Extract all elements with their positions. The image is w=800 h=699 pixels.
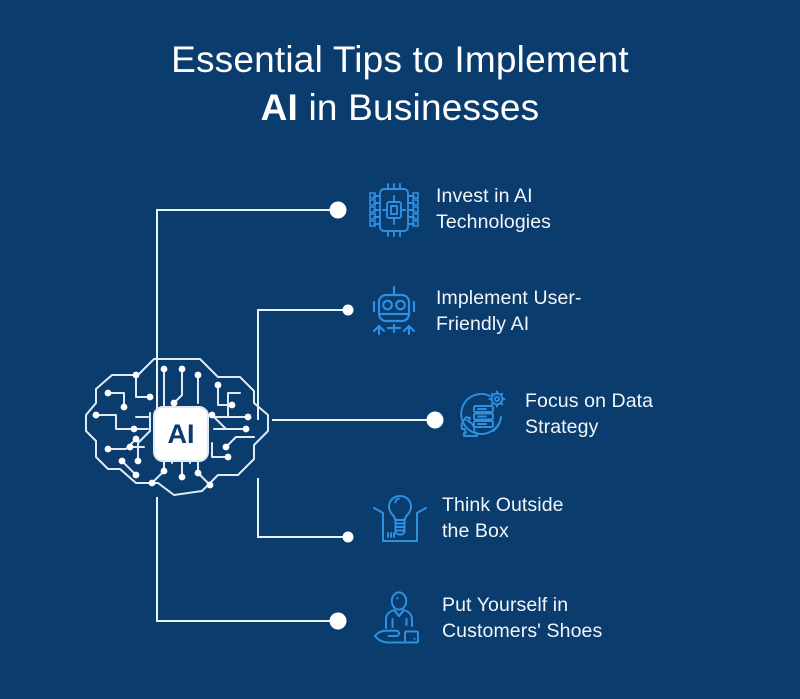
tip-item-5[interactable]: Put Yourself in Customers' Shoes (372, 591, 602, 647)
tip-item-4[interactable]: Think Outside the Box (372, 491, 564, 547)
connector-dot-1 (330, 202, 347, 219)
tip-item-3[interactable]: Focus on Data Strategy (455, 387, 653, 443)
robot-icon (366, 284, 422, 340)
tip-item-1[interactable]: Invest in AI Technologies (366, 182, 551, 238)
ai-chip-label: AI (168, 419, 195, 449)
ai-brain-circuit-icon: AI (78, 345, 283, 515)
data-strategy-icon (455, 387, 511, 443)
title-ai-emphasis: AI (261, 87, 298, 128)
tip-label-5: Put Yourself in Customers' Shoes (442, 593, 602, 645)
infographic-canvas: Essential Tips to Implement AI in Busine… (0, 0, 800, 699)
tip-label-2: Implement User- Friendly AI (436, 286, 582, 338)
connector-dot-5 (330, 613, 347, 630)
page-title: Essential Tips to Implement AI in Busine… (0, 38, 800, 129)
lightbulb-box-icon (372, 491, 428, 547)
connector-dot-2 (343, 305, 354, 316)
connector-dot-4 (343, 532, 354, 543)
connector-path-5 (157, 497, 338, 621)
title-line-1: Essential Tips to Implement (0, 38, 800, 82)
connector-dot-3 (427, 412, 444, 429)
tip-label-1: Invest in AI Technologies (436, 184, 551, 236)
person-hand-icon (372, 591, 428, 647)
tip-label-3: Focus on Data Strategy (525, 389, 653, 441)
title-line-2: AI in Businesses (0, 86, 800, 130)
title-line-2-rest: in Businesses (298, 87, 539, 128)
tip-item-2[interactable]: Implement User- Friendly AI (366, 284, 582, 340)
tip-label-4: Think Outside the Box (442, 493, 564, 545)
microchip-icon (366, 182, 422, 238)
